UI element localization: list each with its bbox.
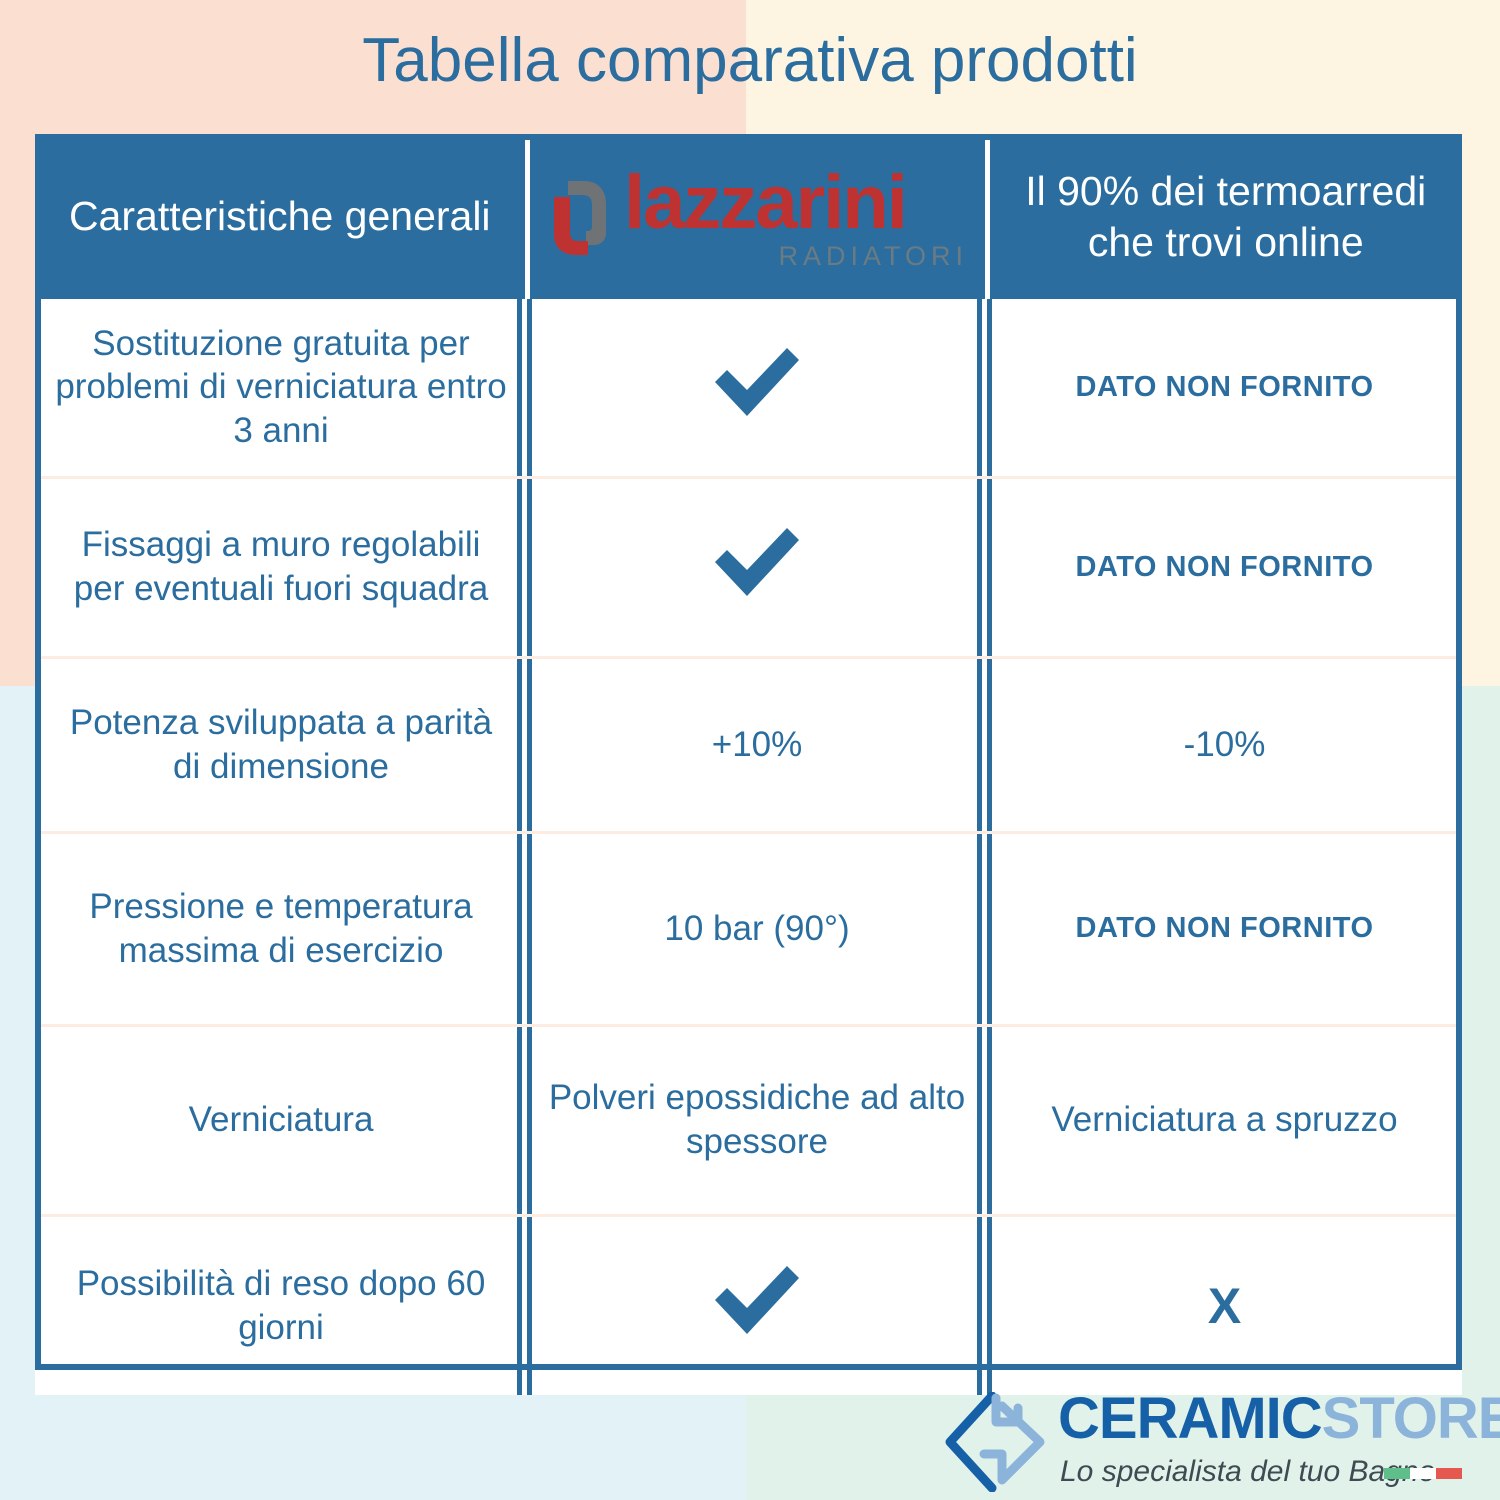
brand-ceramic: CERAMIC xyxy=(1058,1386,1322,1451)
page-title: Tabella comparativa prodotti xyxy=(0,28,1500,93)
table-row: Verniciatura Polveri epossidiche ad alto… xyxy=(35,1025,1462,1215)
row-lazzarini-value xyxy=(527,1215,987,1395)
ceramicstore-tagline: Lo specialista del tuo Bagno xyxy=(1060,1455,1435,1489)
check-icon xyxy=(709,342,805,422)
lazzarini-logo-inner: lazzarini RADIATORI xyxy=(542,157,972,277)
row-competitor-value: DATO NON FORNITO xyxy=(987,477,1462,657)
table-row: Sostituzione gratuita per problemi di ve… xyxy=(35,299,1462,477)
flag-stripe-green xyxy=(1384,1468,1410,1479)
row-feature-label: Verniciatura xyxy=(35,1025,527,1215)
table-row: Fissaggi a muro regolabili per eventuali… xyxy=(35,477,1462,657)
row-competitor-value: DATO NON FORNITO xyxy=(987,299,1462,477)
lazzarini-wordmark: lazzarini xyxy=(624,165,906,241)
row-lazzarini-value: +10% xyxy=(527,657,987,832)
row-lazzarini-value: Polveri epossidiche ad alto spessore xyxy=(527,1025,987,1215)
comparison-table: Caratteristiche generali lazzarini RADIA… xyxy=(35,134,1462,1395)
row-competitor-value: Verniciatura a spruzzo xyxy=(987,1025,1462,1215)
ceramicstore-logo: CERAMICSTORE® Lo specialista del tuo Bag… xyxy=(940,1392,1480,1497)
row-competitor-value: X xyxy=(987,1215,1462,1395)
table-row: Possibilità di reso dopo 60 giorni X xyxy=(35,1215,1462,1395)
row-lazzarini-value: 10 bar (90°) xyxy=(527,832,987,1025)
check-icon xyxy=(709,522,805,602)
row-lazzarini-value xyxy=(527,299,987,477)
lazzarini-hook-icon xyxy=(548,177,610,257)
lazzarini-subtitle: RADIATORI xyxy=(778,243,968,270)
table-row: Pressione e temperatura massima di eserc… xyxy=(35,832,1462,1025)
lazzarini-logo: lazzarini RADIATORI xyxy=(530,152,985,282)
table-row: Potenza sviluppata a parità di dimension… xyxy=(35,657,1462,832)
header-features: Caratteristiche generali xyxy=(35,134,527,299)
row-feature-label: Possibilità di reso dopo 60 giorni xyxy=(35,1215,527,1395)
row-lazzarini-value xyxy=(527,477,987,657)
table-header: Caratteristiche generali lazzarini RADIA… xyxy=(35,134,1462,299)
row-competitor-value: DATO NON FORNITO xyxy=(987,832,1462,1025)
header-competitors: Il 90% dei termoarredi che trovi online xyxy=(987,134,1462,299)
header-row: Caratteristiche generali lazzarini RADIA… xyxy=(35,134,1462,299)
row-feature-label: Sostituzione gratuita per problemi di ve… xyxy=(35,299,527,477)
check-icon xyxy=(709,1260,805,1340)
row-feature-label: Pressione e temperatura massima di eserc… xyxy=(35,832,527,1025)
row-feature-label: Fissaggi a muro regolabili per eventuali… xyxy=(35,477,527,657)
row-feature-label: Potenza sviluppata a parità di dimension… xyxy=(35,657,527,832)
header-lazzarini-logo: lazzarini RADIATORI xyxy=(527,134,987,299)
flag-stripe-red xyxy=(1436,1468,1462,1479)
ceramicstore-diamond-icon xyxy=(940,1392,1050,1492)
flag-stripe-white xyxy=(1410,1468,1436,1479)
infographic-page: Tabella comparativa prodotti Caratterist… xyxy=(0,0,1500,1500)
italian-flag-icon xyxy=(1384,1468,1462,1479)
row-competitor-value: -10% xyxy=(987,657,1462,832)
ceramicstore-wordmark: CERAMICSTORE® xyxy=(1058,1390,1500,1448)
table-body: Sostituzione gratuita per problemi di ve… xyxy=(35,299,1462,1395)
brand-store: STORE xyxy=(1322,1386,1500,1451)
